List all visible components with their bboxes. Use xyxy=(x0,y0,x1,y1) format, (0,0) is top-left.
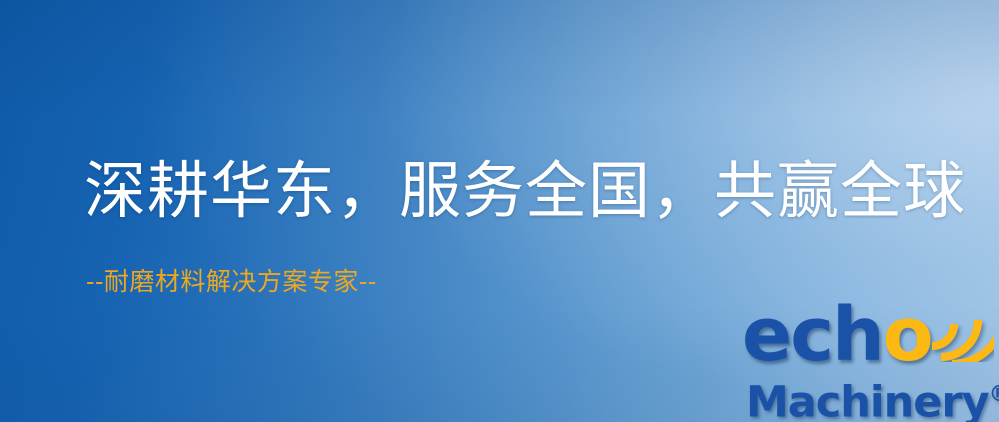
logo-wordmark: echo xyxy=(742,294,994,376)
company-logo[interactable]: echo Machinery® xyxy=(742,296,994,420)
registered-trademark-icon: ® xyxy=(989,382,999,407)
page-title: 深耕华东，服务全国，共赢全球 xyxy=(84,152,966,230)
logo-wordmark-gold-part: o xyxy=(883,292,932,378)
hero-banner: 深耕华东，服务全国，共赢全球 --耐磨材料解决方案专家-- echo Machi… xyxy=(0,0,999,422)
logo-wordmark-blue-part: ech xyxy=(742,292,883,378)
logo-tagline-text: Machinery xyxy=(746,377,989,422)
logo-tagline: Machinery® xyxy=(746,372,999,422)
page-subtitle: --耐磨材料解决方案专家-- xyxy=(86,266,377,298)
